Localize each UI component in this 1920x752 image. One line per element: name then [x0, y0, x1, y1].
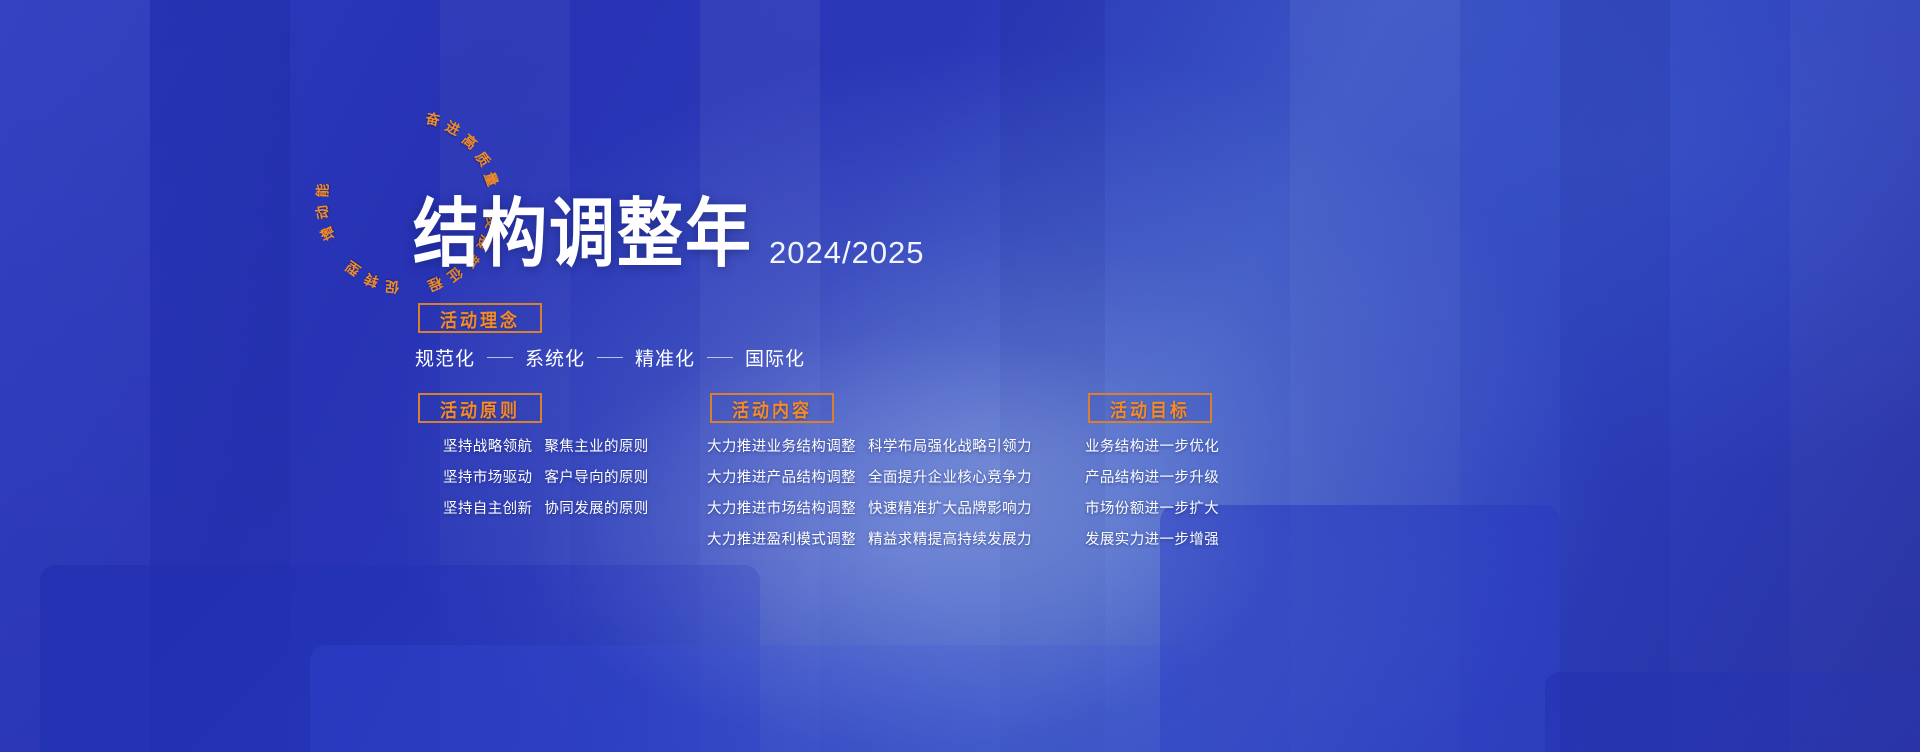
- list-item-secondary: 协同发展的原则: [544, 498, 648, 520]
- list-item: 坚持自主创新协同发展的原则: [443, 498, 649, 520]
- list-item: 产品结构进一步升级: [1085, 467, 1219, 489]
- list-item: 业务结构进一步优化: [1085, 436, 1219, 458]
- list-item: 大力推进盈利模式调整精益求精提高持续发展力: [707, 529, 1032, 551]
- list-item: 发展实力进一步增强: [1085, 529, 1219, 551]
- bg-block-far-right: [1545, 672, 1920, 752]
- bg-stripe-1: [0, 0, 150, 752]
- bg-stripe-5: [1000, 0, 1105, 752]
- badge-principles[interactable]: 活动原则: [418, 393, 542, 423]
- concept-separator: [487, 357, 513, 358]
- page-title: 结构调整年: [413, 197, 753, 272]
- bg-stripe-8: [1790, 0, 1920, 752]
- list-item-primary: 坚持自主创新: [443, 498, 532, 520]
- list-item: 大力推进产品结构调整全面提升企业核心竞争力: [707, 467, 1032, 489]
- concept-separator: [597, 357, 623, 358]
- list-item-secondary: 客户导向的原则: [544, 467, 648, 489]
- concept-item: 精准化: [635, 344, 695, 371]
- bg-stripe-6: [1290, 0, 1460, 752]
- badge-goals-label: 活动目标: [1110, 394, 1190, 422]
- list-item-secondary: 聚焦主业的原则: [544, 436, 648, 458]
- list-item-primary: 大力推进盈利模式调整: [707, 529, 856, 551]
- list-item: 市场份额进一步扩大: [1085, 498, 1219, 520]
- list-item-primary: 坚持战略领航: [443, 436, 532, 458]
- concept-item: 系统化: [525, 344, 585, 371]
- bg-block-right: [1160, 505, 1560, 752]
- badge-contents-label: 活动内容: [732, 394, 812, 422]
- bg-block-mid: [310, 645, 1190, 752]
- bg-stripe-4: [700, 0, 820, 752]
- concept-separator: [707, 357, 733, 358]
- title-row: 结构调整年 2024/2025: [413, 206, 925, 272]
- concept-item: 规范化: [415, 344, 475, 371]
- list-item: 坚持战略领航聚焦主业的原则: [443, 436, 649, 458]
- list-item-primary: 业务结构进一步优化: [1085, 436, 1219, 458]
- column-goals: 业务结构进一步优化产品结构进一步升级市场份额进一步扩大发展实力进一步增强: [1085, 436, 1219, 560]
- badge-concept[interactable]: 活动理念: [418, 303, 542, 333]
- list-item-primary: 大力推进市场结构调整: [707, 498, 856, 520]
- list-item-secondary: 快速精准扩大品牌影响力: [868, 498, 1032, 520]
- list-item-secondary: 科学布局强化战略引领力: [868, 436, 1032, 458]
- list-item-primary: 发展实力进一步增强: [1085, 529, 1219, 551]
- list-item: 坚持市场驱动客户导向的原则: [443, 467, 649, 489]
- list-item-primary: 市场份额进一步扩大: [1085, 498, 1219, 520]
- bg-stripe-2: [150, 0, 290, 752]
- list-item-primary: 坚持市场驱动: [443, 467, 532, 489]
- list-item-primary: 大力推进产品结构调整: [707, 467, 856, 489]
- badge-principles-label: 活动原则: [440, 394, 520, 422]
- list-item-primary: 大力推进业务结构调整: [707, 436, 856, 458]
- list-item-primary: 产品结构进一步升级: [1085, 467, 1219, 489]
- column-principles: 坚持战略领航聚焦主业的原则坚持市场驱动客户导向的原则坚持自主创新协同发展的原则: [443, 436, 649, 529]
- badge-goals[interactable]: 活动目标: [1088, 393, 1212, 423]
- bg-stripe-7: [1560, 0, 1670, 752]
- list-item: 大力推进市场结构调整快速精准扩大品牌影响力: [707, 498, 1032, 520]
- year-label: 2024/2025: [769, 237, 925, 268]
- bg-block-large-left: [40, 565, 760, 752]
- list-item-secondary: 全面提升企业核心竞争力: [868, 467, 1032, 489]
- badge-contents[interactable]: 活动内容: [710, 393, 834, 423]
- list-item: 大力推进业务结构调整科学布局强化战略引领力: [707, 436, 1032, 458]
- list-item-secondary: 精益求精提高持续发展力: [868, 529, 1032, 551]
- column-contents: 大力推进业务结构调整科学布局强化战略引领力大力推进产品结构调整全面提升企业核心竞…: [707, 436, 1032, 560]
- badge-concept-label: 活动理念: [440, 304, 520, 332]
- concept-list: 规范化系统化精准化国际化: [415, 344, 805, 371]
- concept-item: 国际化: [745, 344, 805, 371]
- promo-banner: 奋进高质量发展新征程促转型增动能 结构调整年 2024/2025 活动理念 规范…: [0, 0, 1920, 752]
